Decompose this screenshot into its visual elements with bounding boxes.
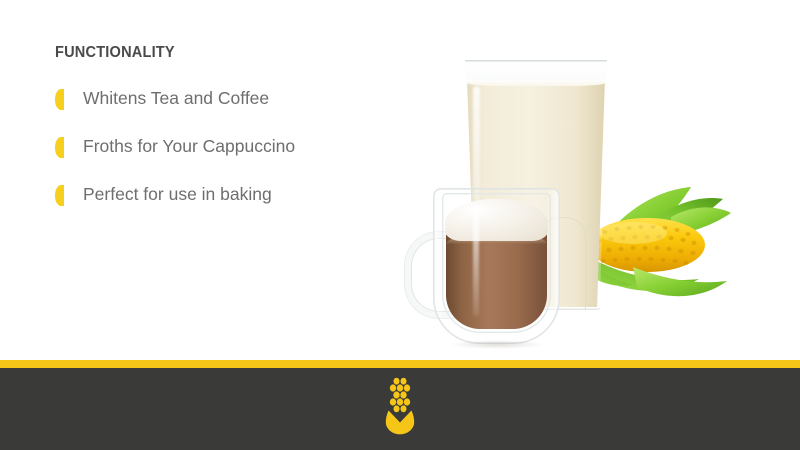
leaf-bullet-icon <box>55 89 64 110</box>
list-item-label: Froths for Your Cappuccino <box>83 138 295 156</box>
list-item: Whitens Tea and Coffee <box>55 82 395 116</box>
product-photo <box>400 58 735 353</box>
list-item-label: Perfect for use in baking <box>83 186 272 204</box>
milk-surface <box>466 79 606 86</box>
mug-outer-wall <box>433 188 560 344</box>
corn-cob-logo-icon <box>380 377 420 435</box>
double-wall-glass-latte-mug-image <box>405 188 560 346</box>
content-column: FUNCTIONALITY Whitens Tea and Coffee Fro… <box>55 44 395 226</box>
glass-rim <box>462 60 610 80</box>
mug-base-shadow <box>451 340 543 349</box>
mug-inner-wall <box>442 193 551 333</box>
footer-accent-stripe <box>0 360 800 368</box>
mug-highlight <box>473 206 479 316</box>
page-title: FUNCTIONALITY <box>55 44 375 62</box>
leaf-bullet-icon <box>55 137 64 158</box>
list-item: Froths for Your Cappuccino <box>55 130 395 164</box>
leaf-bullet-icon <box>55 185 64 206</box>
slide-canvas: FUNCTIONALITY Whitens Tea and Coffee Fro… <box>0 0 800 450</box>
list-item-label: Whitens Tea and Coffee <box>83 90 269 108</box>
list-item: Perfect for use in baking <box>55 178 395 212</box>
footer-bar <box>0 360 800 450</box>
feature-list: Whitens Tea and Coffee Froths for Your C… <box>55 82 395 212</box>
